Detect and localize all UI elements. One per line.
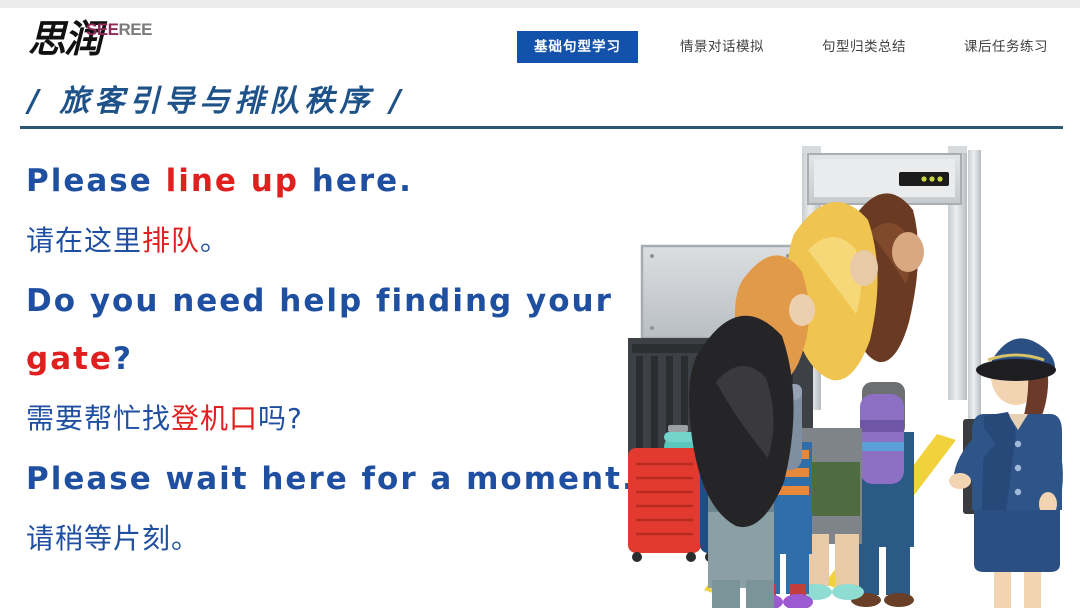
sentence-line-en-3: Please wait here for a moment.	[26, 450, 606, 508]
nav-tab-sentence-classification[interactable]: 句型归类总结	[806, 32, 922, 62]
sentence-2-part-c: 。	[200, 224, 229, 257]
sentence-7-part-a: 请稍等片刻。	[26, 522, 200, 555]
sentence-3-part-a: Do you need help finding your	[26, 283, 613, 319]
page-title: / 旅客引导与排队秩序 /	[28, 76, 406, 120]
suitcase-red	[628, 448, 701, 562]
sentence-line-en-1: Please line up here.	[26, 152, 606, 210]
sentence-5-highlight: 登机口	[171, 402, 258, 435]
slide-root: 思润 SEEREE 基础句型学习 情景对话模拟 句型归类总结 课后任务练习 / …	[0, 0, 1080, 608]
security-checkpoint-illustration	[612, 132, 1080, 608]
sentence-2-part-a: 请在这里	[26, 224, 142, 257]
sentence-4-part-c: ?	[113, 341, 133, 377]
brand-logo[interactable]: 思润 SEEREE	[28, 14, 158, 66]
brand-logo-latin-b: REE	[119, 20, 152, 39]
nav-tab-scenario-dialogue[interactable]: 情景对话模拟	[664, 32, 780, 62]
top-band	[0, 0, 1080, 8]
sentence-line-en-2a: Do you need help finding your	[26, 272, 606, 330]
sentence-1-part-a: Please	[26, 163, 166, 199]
nav-tab-basic-sentence-learning[interactable]: 基础句型学习	[517, 31, 638, 63]
brand-logo-latin: SEEREE	[86, 20, 152, 40]
sentence-list: Please line up here. 请在这里排队。 Do you need…	[26, 152, 606, 570]
header: 思润 SEEREE 基础句型学习 情景对话模拟 句型归类总结 课后任务练习 / …	[0, 8, 1080, 116]
sentence-line-cn-2: 需要帮忙找登机口吗?	[26, 388, 606, 450]
sentence-6-part-a: Please wait here for a moment.	[26, 461, 636, 497]
sentence-2-highlight: 排队	[142, 224, 200, 257]
sentence-1-highlight: line up	[166, 163, 299, 199]
sentence-5-part-c: 吗?	[258, 402, 303, 435]
sentence-line-en-2b: gate?	[26, 330, 606, 388]
header-divider	[20, 126, 1063, 129]
nav-tab-after-class-practice[interactable]: 课后任务练习	[948, 32, 1064, 62]
sentence-line-cn-3: 请稍等片刻。	[26, 508, 606, 570]
main-nav: 基础句型学习 情景对话模拟 句型归类总结 课后任务练习	[517, 31, 1064, 63]
sentence-5-part-a: 需要帮忙找	[26, 402, 171, 435]
sentence-line-cn-1: 请在这里排队。	[26, 210, 606, 272]
brand-logo-latin-a: SEE	[86, 20, 119, 39]
sentence-4-highlight: gate	[26, 341, 113, 377]
sentence-1-part-c: here.	[299, 163, 413, 199]
